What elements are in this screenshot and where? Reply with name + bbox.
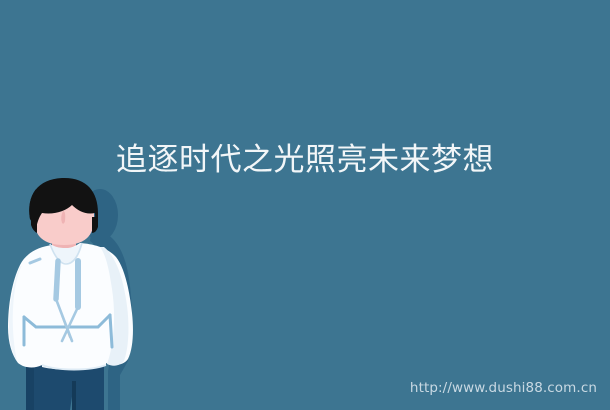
page-title: 追逐时代之光照亮未来梦想 <box>0 141 610 179</box>
watermark-url: http://www.dushi88.com.cn <box>410 380 597 396</box>
banner-canvas: 追逐时代之光照亮未来梦想 <box>0 0 610 410</box>
hoodie <box>8 243 133 370</box>
person-illustration <box>0 175 150 410</box>
